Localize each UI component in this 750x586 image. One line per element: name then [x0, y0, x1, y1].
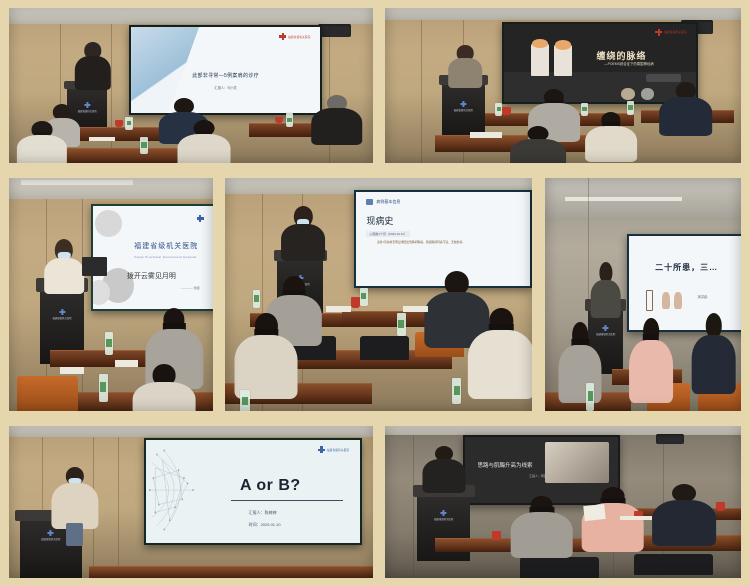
projection-screen: 福建省级机关医院 A or B? 汇报人：陈婷婷 时间：2025.01.10 — [144, 438, 362, 544]
podium-logo-icon — [59, 309, 65, 315]
slide-title: 思路与肌酶升高为线索 — [478, 461, 533, 469]
audience-person — [656, 484, 713, 542]
slide-image — [545, 442, 609, 483]
slide-title: 缠绕的脉络 — [597, 49, 647, 62]
title-underline — [231, 500, 343, 502]
illustration-icon — [674, 292, 682, 309]
audience-person — [631, 318, 670, 397]
podium-logo-text: 福建省级机关医院 — [78, 109, 97, 113]
illustration-icon — [662, 292, 670, 309]
hospital-logo-icon — [318, 446, 325, 453]
folder-icon — [366, 199, 373, 205]
hospital-logo-icon — [197, 215, 207, 225]
photo-middle-right: 二十所患，三… 演讲者： 福建省级机关医院 — [545, 178, 741, 411]
slide-date: 时间：2025.01.10 — [249, 522, 281, 528]
speaker-person — [46, 239, 83, 290]
audience-person — [694, 313, 733, 388]
hospital-logo-icon — [655, 29, 662, 36]
photo-bottom-right: 思路与肌酶升高为线索 汇报人：李医生 福建省级机关医院 — [385, 426, 741, 578]
photo-bottom-left: 福建省级机关医院 A or B? 汇报人：陈婷婷 时间：2025.01.10 福… — [9, 426, 373, 578]
hospital-logo-icon — [279, 33, 286, 40]
projection-screen: 福建省级机关医院 此部非寻常—5例案肩的诊疗 汇报人：马小芳 — [129, 25, 322, 115]
audience-person — [315, 95, 359, 142]
slide-section-label: 病例基本信息 — [376, 199, 400, 205]
audience-person — [237, 313, 295, 392]
speaker-person — [283, 206, 323, 257]
podium-logo-icon — [460, 101, 466, 107]
podium-logo-icon — [603, 325, 609, 331]
speaker-box-icon — [656, 434, 684, 445]
podium-logo-text: 福建省级机关医院 — [52, 316, 71, 320]
slide-tag: 入院前1个月（2024.10.11） — [366, 231, 409, 237]
slide-subtitle: 演讲者： — [697, 294, 710, 299]
slide-title: 此部非寻常—5例案肩的诊疗 — [192, 72, 259, 79]
audience-person — [513, 126, 563, 163]
speaker-person — [75, 42, 111, 89]
slide-logo-text: 福建省级机关医院 — [327, 448, 349, 452]
slide-title: A or B? — [240, 477, 301, 495]
slide-subtitle: ———— 例报 — [181, 286, 200, 290]
slide-presenter: 汇报人：陈婷婷 — [249, 510, 277, 516]
audience-person — [513, 496, 570, 554]
slide-title: 拨开云雾见月明 — [127, 271, 176, 281]
photo-top-right: 福建省级机关医院 缠绕的脉络 —POEMS综合征下的周围神经病 福建省级机关医院 — [385, 8, 741, 163]
slide-subtitle: —POEMS综合征下的周围神经病 — [604, 61, 654, 66]
photo-middle-left: 福建省级机关医院 Fujian Provincial Government Ho… — [9, 178, 213, 411]
speaker-person — [449, 45, 481, 85]
audience-person — [663, 82, 709, 132]
podium-logo-icon — [84, 102, 90, 108]
slide-body-text: 患者1月余前无明显诱因出现胸闷胸痛，偶感胸部闷痛不适，无放射痛… — [377, 240, 520, 244]
photo-collage: 福建省级机关医院 此部非寻常—5例案肩的诊疗 汇报人：马小芳 福建省级机关医院 — [0, 0, 750, 586]
audience-person — [180, 120, 227, 163]
slide-title: 二十所患，三… — [655, 262, 718, 273]
photo-top-left: 福建省级机关医院 此部非寻常—5例案肩的诊疗 汇报人：马小芳 福建省级机关医院 — [9, 8, 373, 163]
speaker-person — [424, 446, 463, 492]
slide-subtitle: 汇报人：李医生 — [529, 474, 549, 478]
podium-logo-text: 福建省级机关医院 — [434, 517, 453, 521]
slide-hospital-pinyin: Fujian Provincial Government Hospital — [134, 255, 196, 259]
podium-logo-text: 福建省级机关医院 — [454, 108, 473, 112]
audience-person — [135, 364, 192, 411]
illustration-icon — [646, 290, 653, 311]
slide-title: 现病史 — [366, 214, 393, 227]
audience-person — [588, 112, 634, 159]
slide-hospital-name: 福建省级机关医院 — [134, 241, 198, 251]
podium-logo-icon — [441, 510, 447, 516]
laptop-icon — [82, 257, 106, 276]
audience-person — [471, 308, 532, 392]
speaker-box-icon — [318, 24, 351, 38]
network-sphere-icon — [148, 444, 238, 536]
projection-screen: 福建省级机关医院 Fujian Provincial Government Ho… — [91, 204, 213, 311]
speaker-person — [53, 467, 97, 543]
slide-logo-text: 福建省级机关医院 — [288, 35, 310, 39]
speaker-person — [592, 262, 619, 313]
audience-person — [20, 121, 64, 163]
slide-logo-text: 福建省级机关医院 — [664, 30, 686, 34]
slide-subtitle: 汇报人：马小芳 — [214, 85, 236, 90]
photo-middle-center: 病例基本信息 现病史 入院前1个月（2024.10.11） 患者1月余前无明显诱… — [225, 178, 532, 411]
